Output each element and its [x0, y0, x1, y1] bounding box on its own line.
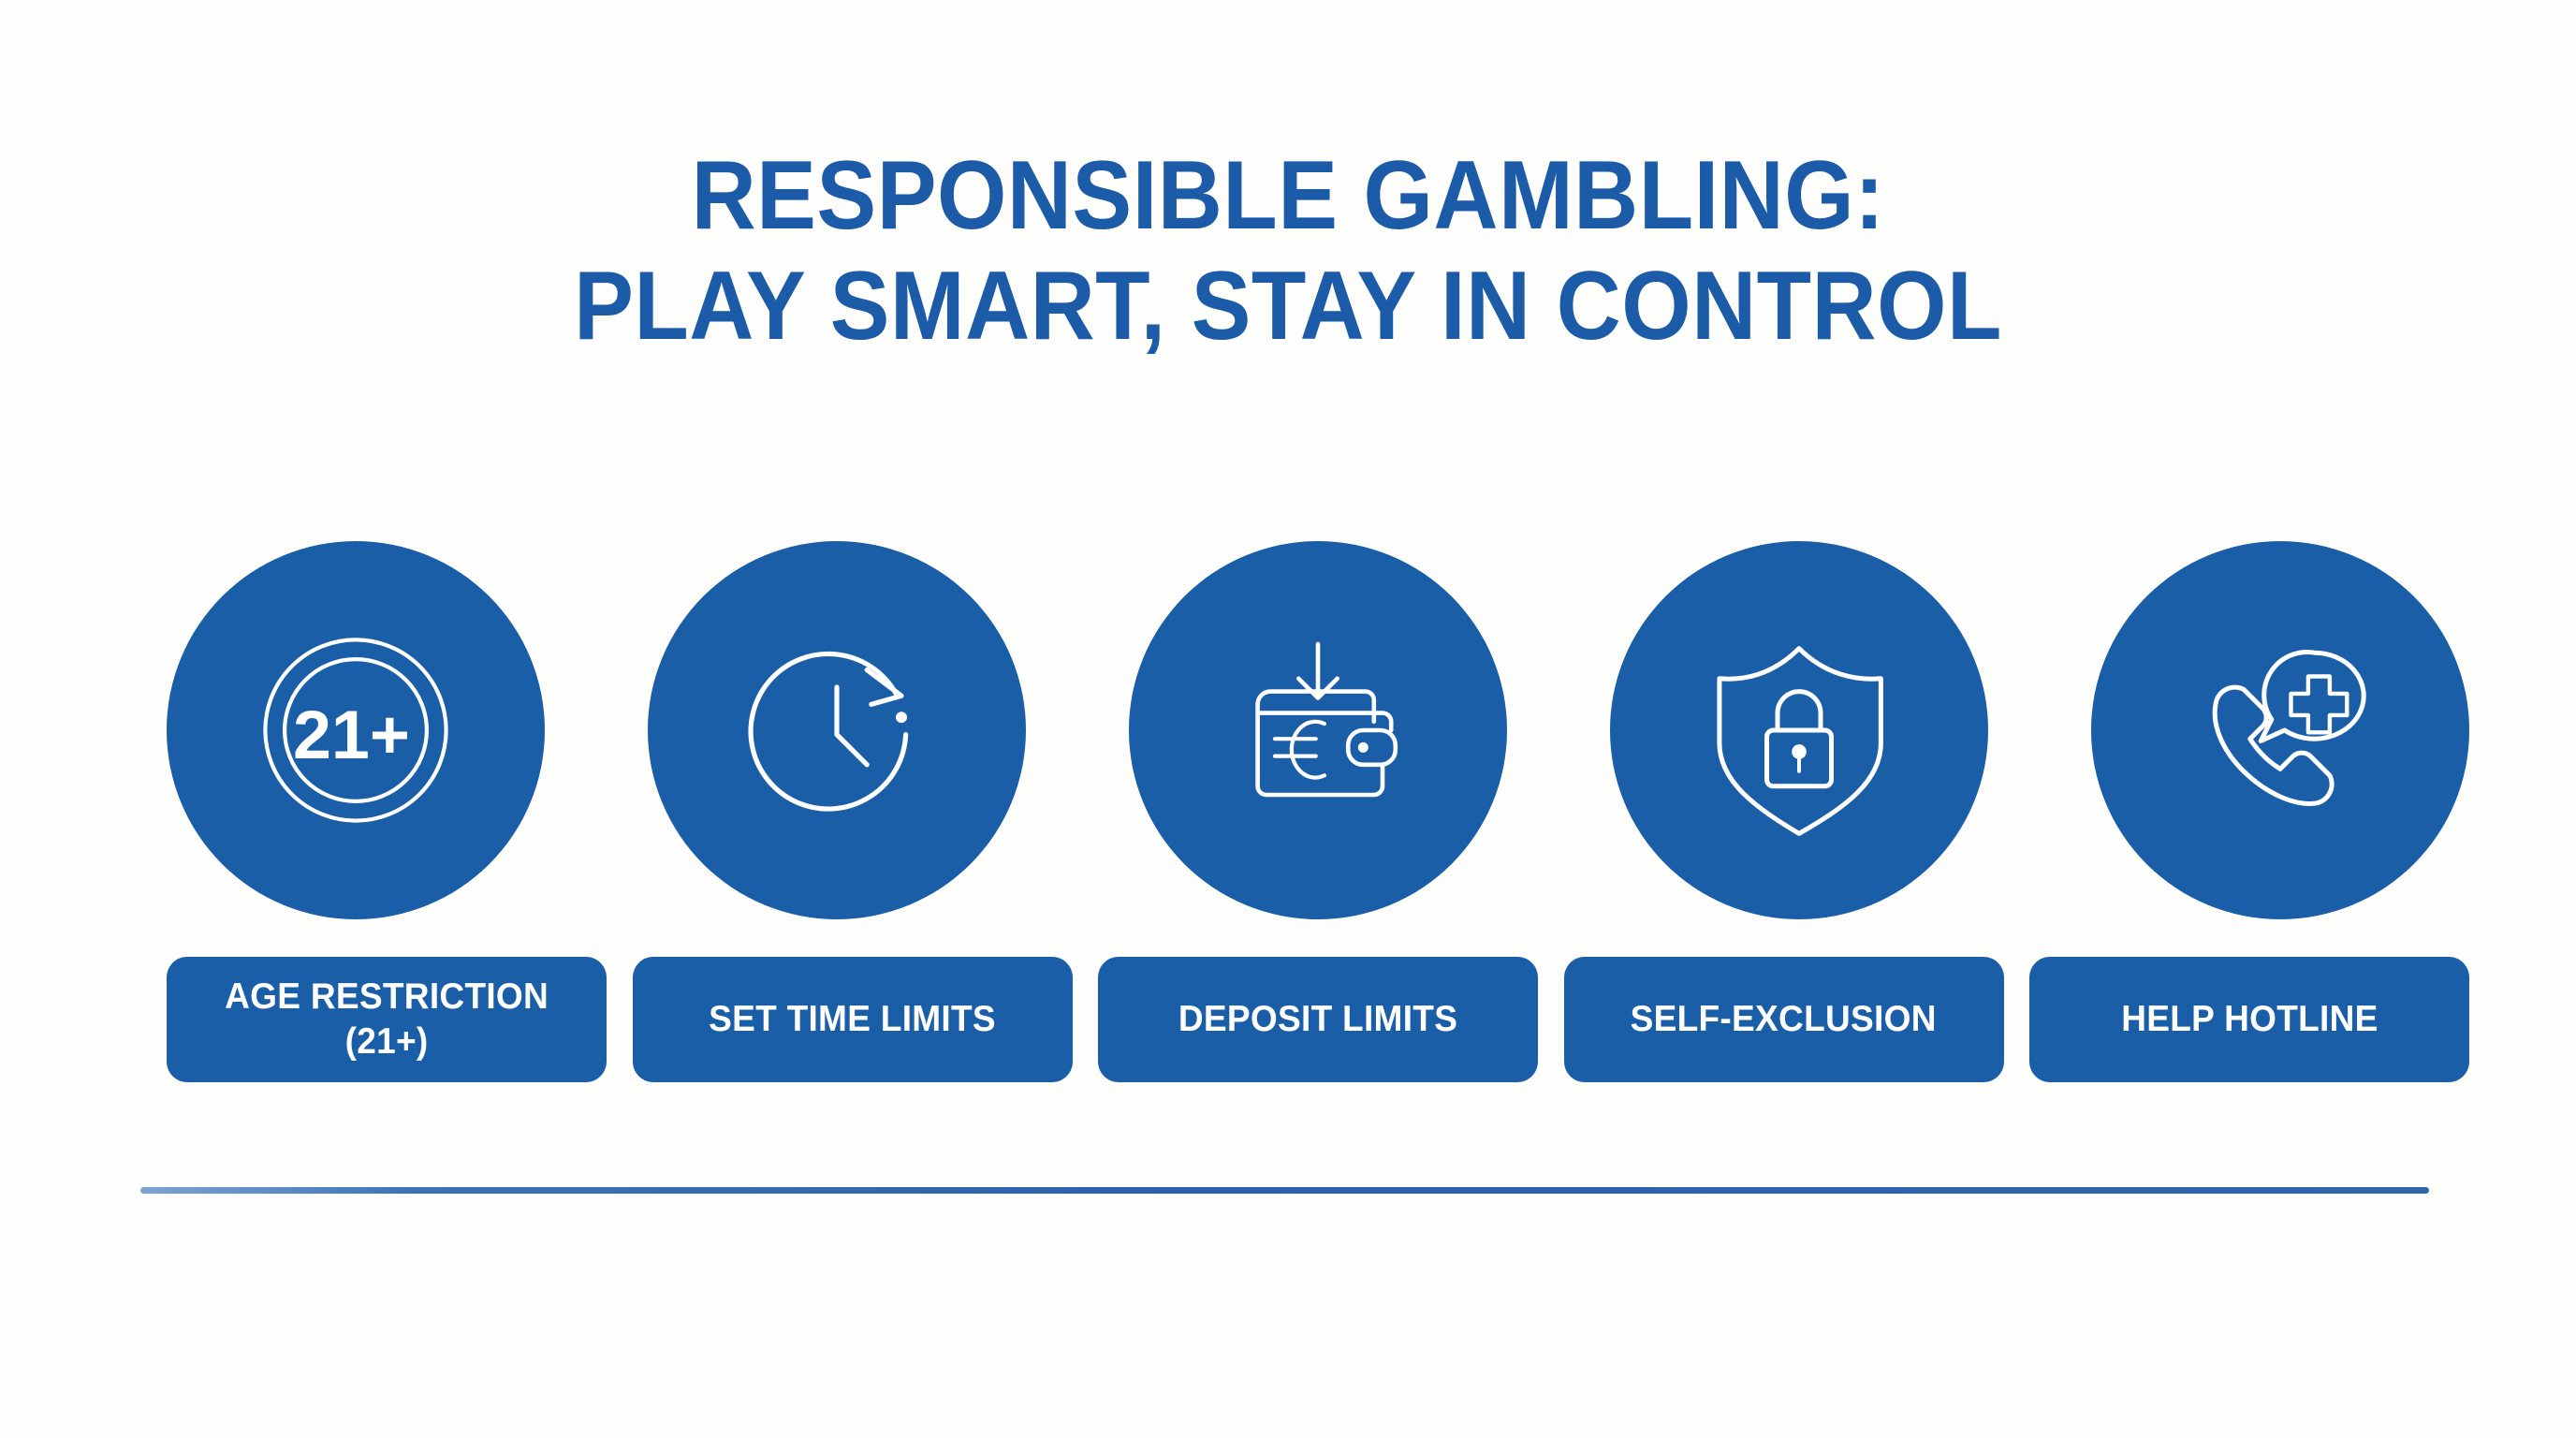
icon-row: 21+	[167, 541, 2469, 919]
phone-help-bubble-icon	[2173, 623, 2388, 838]
label-pill-age-restriction[interactable]: AGE RESTRICTION (21+)	[167, 957, 607, 1082]
label-pill-help-hotline[interactable]: HELP HOTLINE	[2029, 957, 2469, 1082]
infographic-canvas: RESPONSIBLE GAMBLING: PLAY SMART, STAY I…	[0, 0, 2576, 1438]
label-text: SET TIME LIMITS	[709, 997, 996, 1042]
label-pill-set-time-limits[interactable]: SET TIME LIMITS	[633, 957, 1073, 1082]
label-row: AGE RESTRICTION (21+) SET TIME LIMITS DE…	[167, 957, 2469, 1082]
title-line-1: RESPONSIBLE GAMBLING:	[103, 140, 2473, 251]
label-text: SELF-EXCLUSION	[1631, 997, 1937, 1042]
age-21-plus-icon-text: 21+	[293, 696, 410, 773]
icon-circle-help-hotline[interactable]	[2091, 541, 2469, 919]
age-21-plus-icon: 21+	[248, 623, 463, 838]
icon-circle-age-restriction[interactable]: 21+	[167, 541, 545, 919]
shield-lock-icon	[1691, 623, 1907, 838]
page-title: RESPONSIBLE GAMBLING: PLAY SMART, STAY I…	[0, 140, 2576, 361]
icon-circle-set-time-limits[interactable]	[648, 541, 1026, 919]
footer-divider	[140, 1187, 2429, 1194]
label-text: AGE RESTRICTION (21+)	[225, 975, 549, 1064]
icon-circle-deposit-limits[interactable]	[1129, 541, 1507, 919]
clock-time-limit-icon	[729, 623, 944, 838]
title-line-2: PLAY SMART, STAY IN CONTROL	[103, 251, 2473, 361]
label-text: HELP HOTLINE	[2121, 997, 2378, 1042]
wallet-euro-deposit-icon	[1210, 623, 1426, 838]
label-pill-self-exclusion[interactable]: SELF-EXCLUSION	[1564, 957, 2004, 1082]
label-pill-deposit-limits[interactable]: DEPOSIT LIMITS	[1098, 957, 1538, 1082]
label-text: DEPOSIT LIMITS	[1178, 997, 1457, 1042]
icon-circle-self-exclusion[interactable]	[1610, 541, 1988, 919]
